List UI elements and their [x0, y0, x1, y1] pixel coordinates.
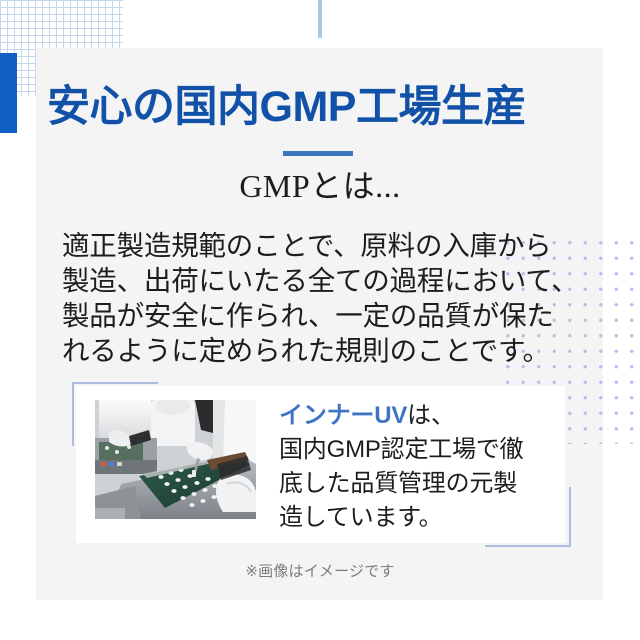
- page-title: 安心の国内GMP工場生産: [47, 83, 607, 131]
- body-line: れるように定められた規則のことです。: [62, 333, 567, 368]
- brand-name: インナーUV: [279, 402, 407, 429]
- card-line-1: インナーUVは、: [279, 399, 559, 433]
- body-line: 製造、出荷にいたる全ての過程において、: [62, 263, 567, 298]
- infographic-canvas: 安心の国内GMP工場生産 GMPとは... 適正製造規範のことで、原料の入庫から…: [0, 0, 640, 640]
- body-line: 適正製造規範のことで、原料の入庫から: [62, 228, 567, 263]
- card-line: 造しています。: [279, 501, 559, 535]
- title-bar-accent: [0, 53, 17, 133]
- card-line: 底した品質管理の元製: [279, 467, 559, 501]
- card-description: インナーUVは、 国内GMP認定工場で徹 底した品質管理の元製 造しています。: [279, 399, 559, 535]
- body-paragraph: 適正製造規範のことで、原料の入庫から 製造、出荷にいたる全ての過程において、 製…: [62, 228, 567, 368]
- card-line: 国内GMP認定工場で徹: [279, 433, 559, 467]
- body-line: 製品が安全に作られ、一定の品質が保た: [62, 298, 567, 333]
- vertical-accent-line: [318, 0, 322, 38]
- section-subtitle: GMPとは...: [0, 169, 640, 204]
- factory-photo-image: [95, 400, 256, 519]
- image-disclaimer: ※画像はイメージです: [0, 560, 640, 581]
- card-line-1-tail: は、: [407, 402, 455, 429]
- factory-photo: [95, 400, 256, 519]
- title-underline: [283, 151, 353, 156]
